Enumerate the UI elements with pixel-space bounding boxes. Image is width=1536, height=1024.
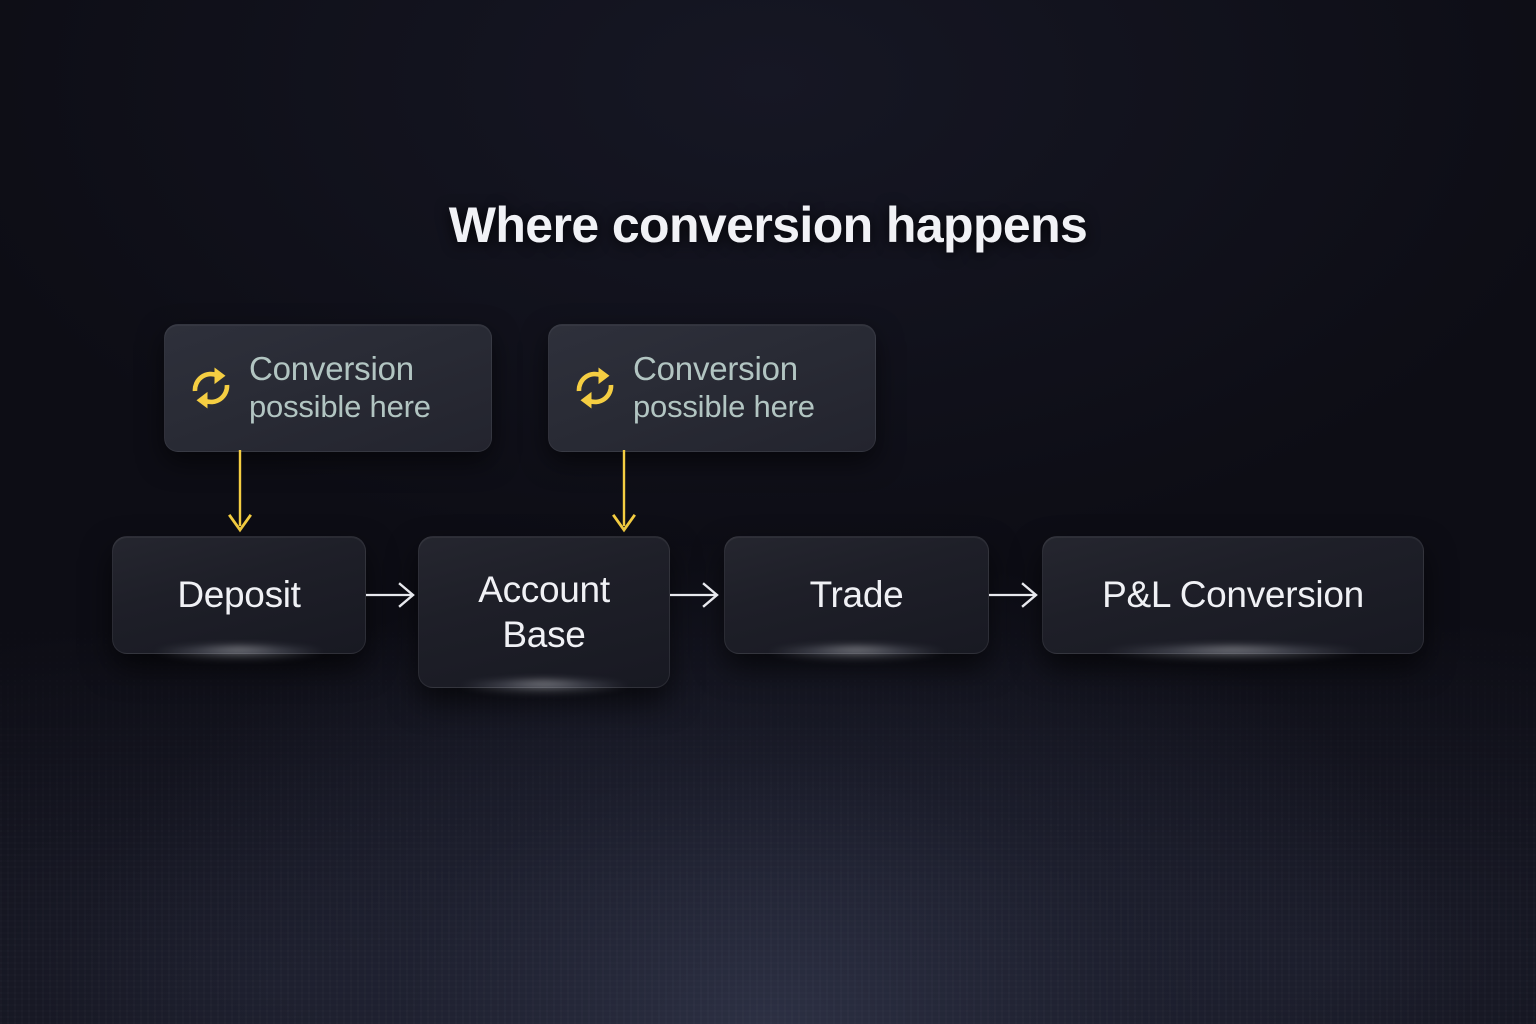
diagram-canvas: Where conversion happens Conversion poss… [0, 0, 1536, 1024]
conversion-badge[interactable]: Conversion possible here [164, 324, 492, 452]
conversion-badge-line-2: possible here [249, 389, 431, 426]
conversion-drop-arrow-account-base [606, 450, 642, 536]
conversion-drop-arrow-deposit [222, 450, 258, 536]
flow-arrow-right [670, 578, 726, 612]
page-title: Where conversion happens [0, 196, 1536, 254]
conversion-badge[interactable]: Conversion possible here [548, 324, 876, 452]
conversion-sync-icon [571, 364, 619, 412]
flow-step-account-base[interactable]: Account Base [418, 536, 670, 688]
conversion-badge-line-2: possible here [633, 389, 815, 426]
conversion-badge-line-1: Conversion [249, 350, 431, 389]
flow-step-label: Deposit [177, 572, 300, 617]
flow-step-pl-conversion[interactable]: P&L Conversion [1042, 536, 1424, 654]
conversion-sync-icon [187, 364, 235, 412]
flow-step-trade[interactable]: Trade [724, 536, 989, 654]
conversion-badge-line-1: Conversion [633, 350, 815, 389]
flow-step-label: P&L Conversion [1102, 572, 1364, 617]
flow-arrow-right [989, 578, 1045, 612]
conversion-badge-text: Conversion possible here [249, 350, 431, 426]
flow-step-deposit[interactable]: Deposit [112, 536, 366, 654]
flow-step-label: Account Base [478, 567, 610, 657]
flow-step-label: Trade [810, 572, 904, 617]
flow-arrow-right [366, 578, 422, 612]
conversion-badge-text: Conversion possible here [633, 350, 815, 426]
